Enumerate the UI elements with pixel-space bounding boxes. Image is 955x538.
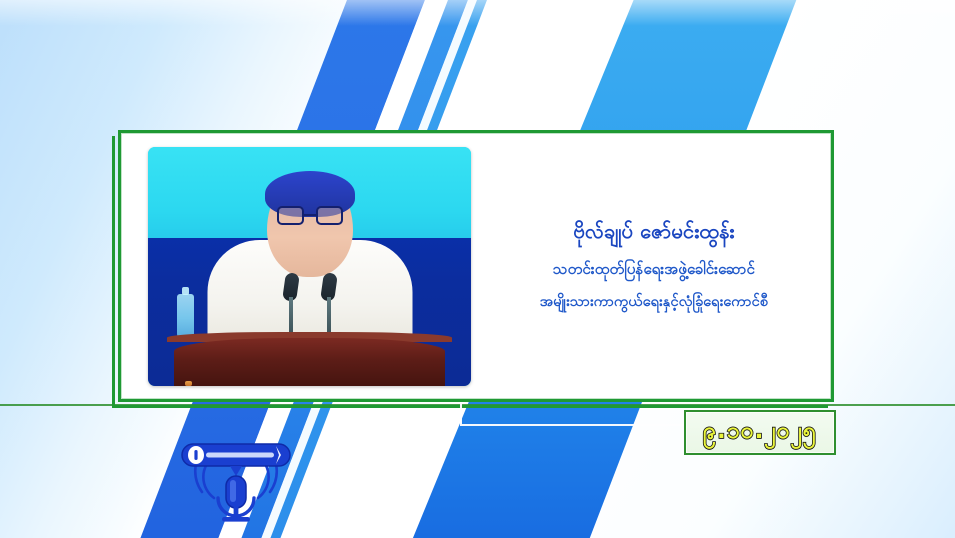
mic-stem	[327, 297, 331, 335]
mic-stem	[289, 297, 293, 335]
caption-organization: အမျိုးသားကာကွယ်ရေးနှင့်လုံခြုံရေးကောင်စီ	[540, 293, 768, 313]
date-badge: ၉.၁၀.၂၀၂၅	[684, 410, 836, 455]
caption-block: ဗိုလ်ချုပ် ဇော်မင်းထွန်း သတင်းထုတ်ပြန်ရေ…	[486, 150, 822, 380]
photo-podium	[174, 338, 445, 386]
glasses-bridge	[304, 214, 316, 217]
broadcast-graphic: ဗိုလ်ချုပ် ဇော်မင်းထွန်း သတင်းထုတ်ပြန်ရေ…	[0, 0, 955, 538]
date-connector-line	[460, 404, 686, 426]
glasses-left-lens	[277, 206, 304, 225]
photo-microphone-right	[322, 273, 336, 333]
caption-role: သတင်းထုတ်ပြန်ရေးအဖွဲ့ခေါင်းဆောင်	[553, 259, 755, 279]
speaker-photo	[148, 147, 471, 386]
glasses-right-lens	[316, 206, 343, 225]
photo-podium-side-light	[185, 381, 192, 386]
photo-water-bottle	[177, 294, 194, 338]
date-text: ၉.၁၀.၂၀၂၅	[703, 416, 817, 450]
photo-microphone-left	[284, 273, 298, 333]
photo-speaker-glasses	[277, 206, 343, 225]
caption-name: ဗိုလ်ချုပ် ဇော်မင်းထွန်း	[573, 218, 734, 245]
microphone-broadcast-logo	[168, 428, 304, 528]
